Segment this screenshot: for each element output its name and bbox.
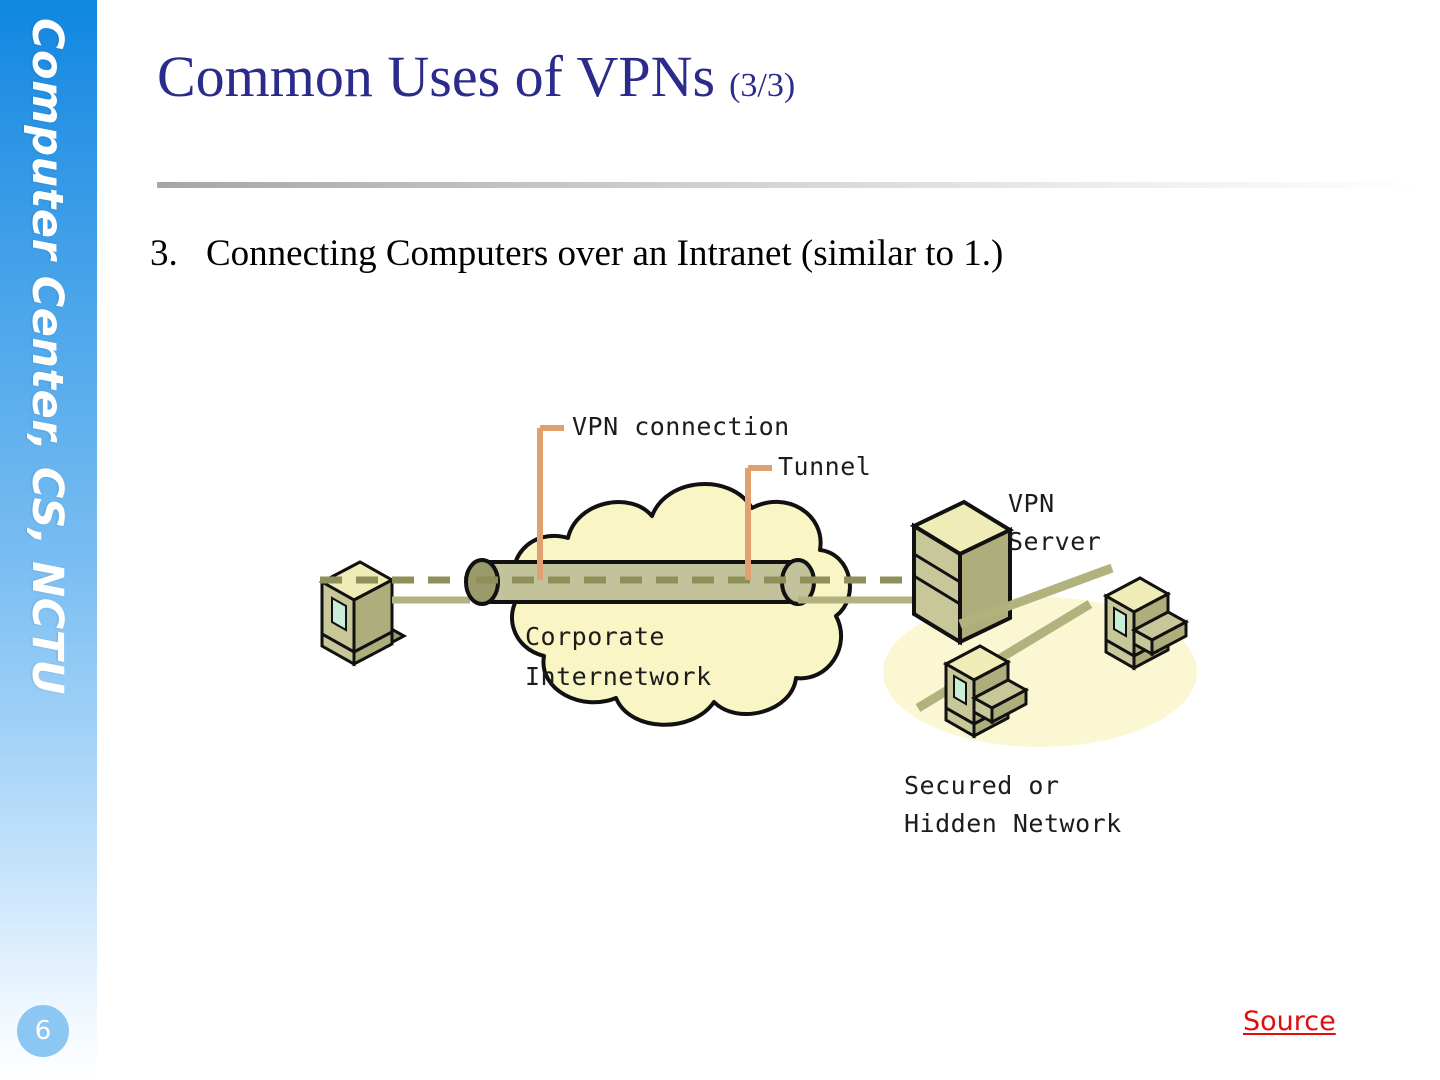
- label-vpn-connection: VPN connection: [572, 412, 790, 441]
- sidebar-branding-text: Computer Center, CS, NCTU: [0, 0, 96, 1000]
- label-corporate-line1: Corporate: [525, 622, 665, 651]
- sidebar: Computer Center, CS, NCTU 6: [0, 0, 97, 1080]
- bullet-text: Connecting Computers over an Intranet (s…: [206, 232, 1350, 276]
- page-title-subcount: (3/3): [729, 69, 795, 103]
- bullet-item: 3. Connecting Computers over an Intranet…: [150, 232, 1350, 276]
- slide-canvas: Computer Center, CS, NCTU 6 Common Uses …: [0, 0, 1440, 1080]
- tunnel-cylinder: [466, 560, 814, 604]
- vpn-intranet-diagram: VPN connection Tunnel Corporate Internet…: [300, 390, 1240, 850]
- source-link[interactable]: Source: [1243, 1006, 1336, 1037]
- label-secured-line1: Secured or: [904, 771, 1060, 800]
- bullet-number: 3.: [150, 232, 206, 276]
- page-title-main: Common Uses of VPNs: [157, 48, 715, 106]
- label-tunnel: Tunnel: [778, 452, 871, 481]
- label-secured-line2: Hidden Network: [904, 809, 1122, 838]
- label-vpn-server-line2: Server: [1008, 527, 1101, 556]
- label-vpn-server-line1: VPN: [1008, 489, 1055, 518]
- page-number-badge: 6: [17, 1005, 69, 1057]
- label-corporate-line2: Internetwork: [525, 662, 712, 691]
- page-title: Common Uses of VPNs (3/3): [157, 48, 1397, 138]
- title-divider-rule: [157, 182, 1422, 188]
